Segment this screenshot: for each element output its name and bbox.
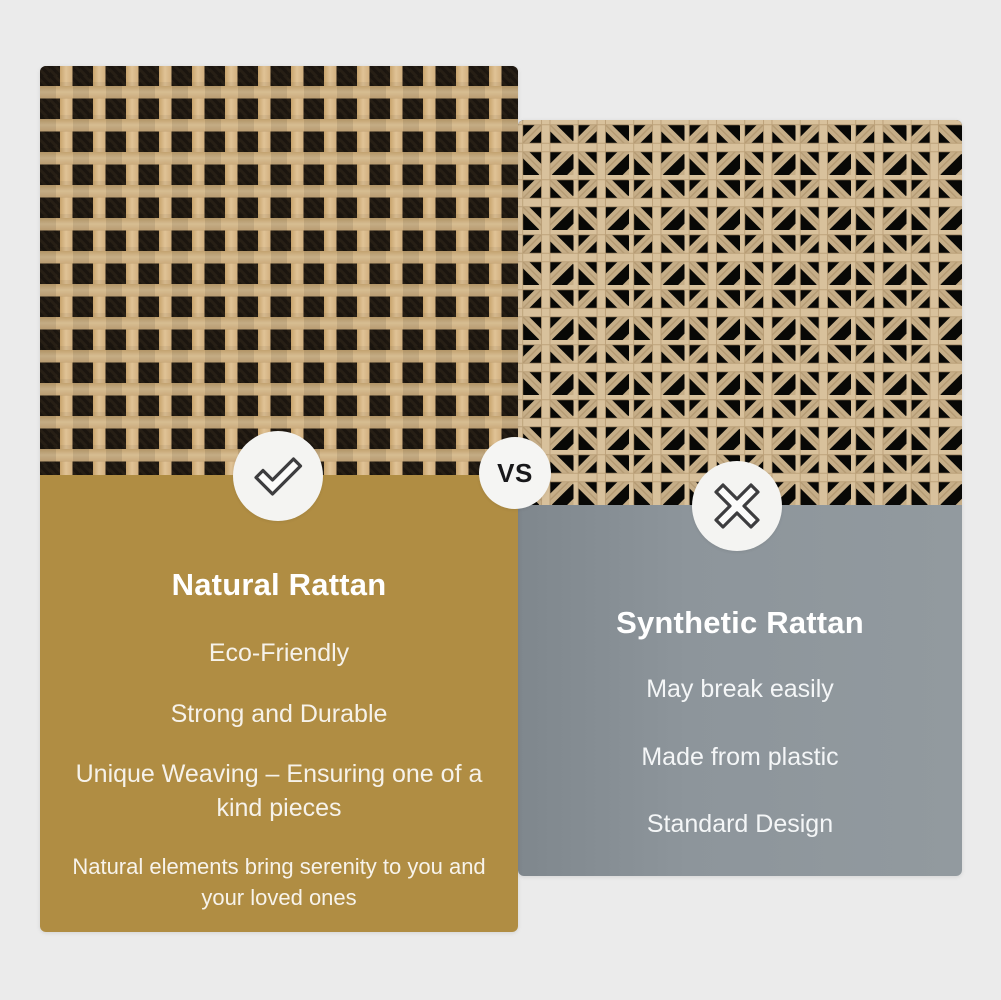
natural-rattan-title: Natural Rattan — [66, 567, 492, 603]
feature-item: Eco-Friendly — [66, 637, 492, 671]
feature-item: Strong and Durable — [66, 698, 492, 732]
feature-item: May break easily — [544, 673, 936, 707]
synthetic-rattan-feature-list: May break easily Made from plastic Stand… — [544, 673, 936, 842]
feature-item: Unique Weaving – Ensuring one of a kind … — [66, 758, 492, 825]
check-icon — [251, 449, 305, 503]
natural-woven-rattan-texture — [40, 66, 518, 475]
natural-rattan-panel: Natural Rattan Eco-Friendly Strong and D… — [40, 475, 518, 932]
synthetic-rattan-title: Synthetic Rattan — [544, 605, 936, 641]
comparison-infographic: Natural Rattan Eco-Friendly Strong and D… — [0, 0, 1001, 1000]
feature-item: Made from plastic — [544, 741, 936, 775]
feature-item: Standard Design — [544, 808, 936, 842]
synthetic-rattan-panel: Synthetic Rattan May break easily Made f… — [518, 505, 962, 876]
natural-rattan-tagline: Natural elements bring serenity to you a… — [66, 852, 492, 914]
synthetic-cane-webbing-texture — [518, 120, 962, 505]
natural-rattan-feature-list: Eco-Friendly Strong and Durable Unique W… — [66, 637, 492, 825]
cross-icon — [712, 481, 762, 531]
check-badge — [233, 431, 323, 521]
versus-badge: VS — [479, 437, 551, 509]
cross-badge — [692, 461, 782, 551]
versus-label: VS — [497, 458, 533, 489]
